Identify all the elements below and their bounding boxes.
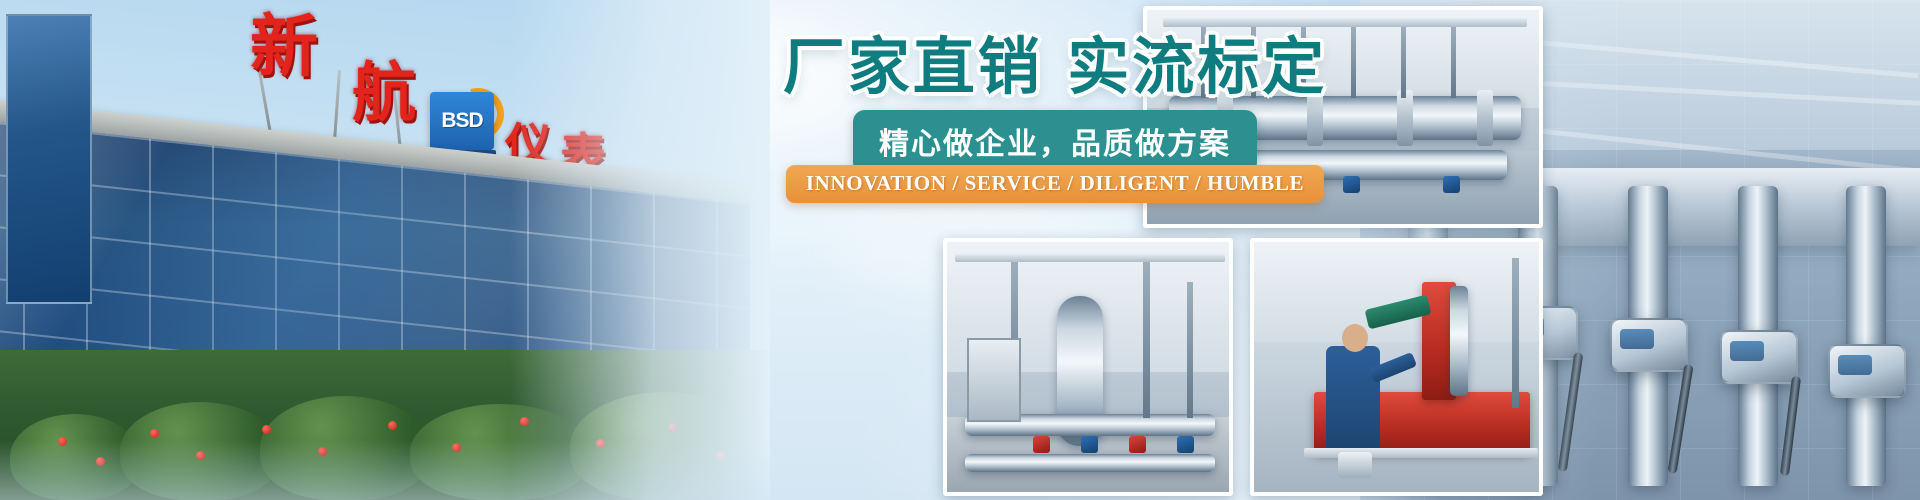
flower-7 [388,421,397,430]
valve-3 [1443,176,1460,193]
low-pipe [965,454,1215,472]
worker-torso [1326,346,1380,452]
logo-text: BSD [441,109,482,133]
left-photo-right-fade [510,0,770,500]
banner-subtitle-text: 精心做企业，品质做方案 [879,127,1231,162]
workpiece-cylinder [1338,452,1372,478]
flower-5 [262,425,271,434]
riser-5 [1401,24,1406,98]
panel-worker-cnc-machine [1250,238,1543,496]
blue-valve-2 [1177,436,1194,453]
company-logo-bsd: BSD [430,92,494,150]
worker-head [1342,324,1368,352]
banner-tagline-bar: INNOVATION / SERVICE / DILIGENT / HUMBLE [786,165,1324,203]
ceiling-truss [955,254,1225,262]
banner-headline: 厂家直销 实流标定 [783,36,1328,98]
left-photo-factory-building: 新 航 仪 表 BSD [0,0,770,500]
promo-banner: 新 航 仪 表 BSD [0,0,1920,500]
control-cabinet [967,338,1021,422]
blue-valve-1 [1081,436,1098,453]
banner-tagline-text: INNOVATION / SERVICE / DILIGENT / HUMBLE [806,171,1304,195]
support-column-2 [1143,258,1150,418]
riser-6 [1451,24,1456,98]
roof-sign-char-xin: 新 [250,14,318,82]
panel-piping-test-facility [943,238,1233,496]
flower-3 [150,429,159,438]
riser-4 [1351,24,1356,98]
tool-spindle [1450,286,1468,396]
red-valve-2 [1129,436,1146,453]
panel-wall [1254,242,1539,342]
overhead-beam [1163,18,1527,27]
flange-4 [1477,90,1493,146]
building-corner-tower [6,14,92,304]
support-column-3 [1187,282,1193,418]
valve-2 [1343,176,1360,193]
back-post [1512,258,1519,408]
roof-sign-char-hang: 航 [352,62,416,126]
left-photo-bottom-fade [0,440,770,500]
red-valve-1 [1033,436,1050,453]
flange-3 [1397,90,1413,146]
